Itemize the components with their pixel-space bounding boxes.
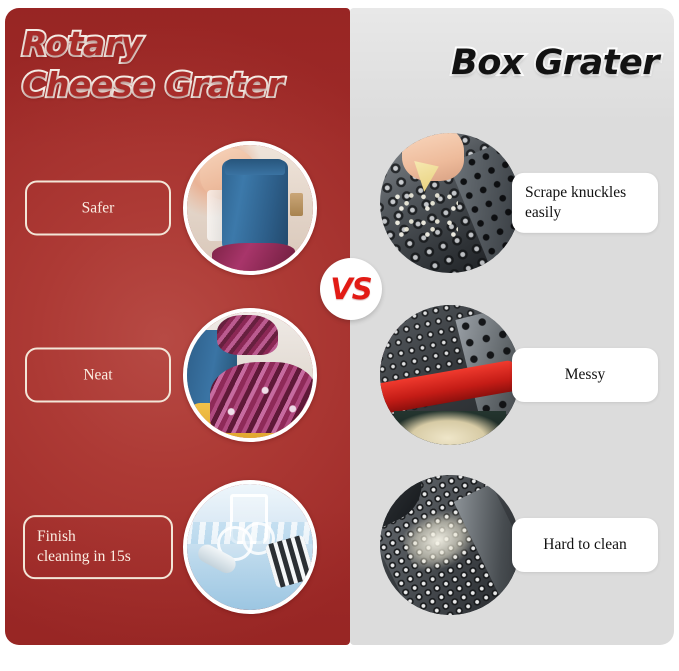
right-feature-label-hard-to-clean: Hard to clean — [512, 518, 658, 572]
photo-shredded-purple-cabbage-in-tray — [183, 308, 317, 442]
left-feature-row: Safer — [5, 133, 350, 283]
left-feature-row: Neat — [5, 300, 350, 450]
photo-box-grater-with-red-base-scattered-cheese — [380, 305, 520, 445]
right-feature-label-scrape-knuckles: Scrape knuckles easily — [512, 173, 658, 233]
right-feature-row: Scrape knuckles easily — [350, 128, 674, 278]
left-feature-label-neat: Neat — [25, 348, 171, 403]
right-feature-row: Hard to clean — [350, 470, 674, 620]
right-feature-label-messy: Messy — [512, 348, 658, 402]
left-feature-label-text: Safer — [82, 198, 115, 218]
right-feature-label-text: Messy — [565, 365, 605, 385]
left-feature-label-text: Finish cleaning in 15s — [37, 527, 131, 567]
left-feature-row: Finish cleaning in 15s — [5, 472, 350, 622]
vs-badge: VS — [320, 258, 382, 320]
left-feature-label-text: Neat — [83, 365, 112, 385]
cheese-shreds-shape — [391, 189, 458, 239]
cabbage-spill-shape — [217, 315, 277, 355]
right-feature-label-text: Hard to clean — [543, 535, 627, 555]
product-comparison-infographic: Rotary Cheese Grater Safer Neat — [0, 0, 679, 671]
photo-dirty-grater-surface-stuck-cheese — [380, 475, 520, 615]
grater-lid-shape — [225, 159, 285, 175]
left-feature-label-safer: Safer — [25, 181, 171, 236]
grater-clip-shape — [290, 193, 303, 216]
cabbage-shape — [212, 243, 295, 271]
cabbage-pile-shape — [210, 362, 316, 433]
photo-hand-holding-blue-rotary-grater — [183, 141, 317, 275]
left-feature-label-finish-cleaning: Finish cleaning in 15s — [23, 515, 173, 579]
right-feature-label-text: Scrape knuckles easily — [525, 183, 626, 223]
spilled-cheese-shape — [394, 411, 506, 445]
right-panel-title: Box Grater — [0, 43, 659, 83]
photo-hand-grating-cheese-on-box-grater — [380, 133, 520, 273]
photo-grater-parts-washing-in-water — [183, 480, 317, 614]
right-feature-row: Messy — [350, 300, 674, 450]
vs-label: VS — [330, 272, 371, 306]
